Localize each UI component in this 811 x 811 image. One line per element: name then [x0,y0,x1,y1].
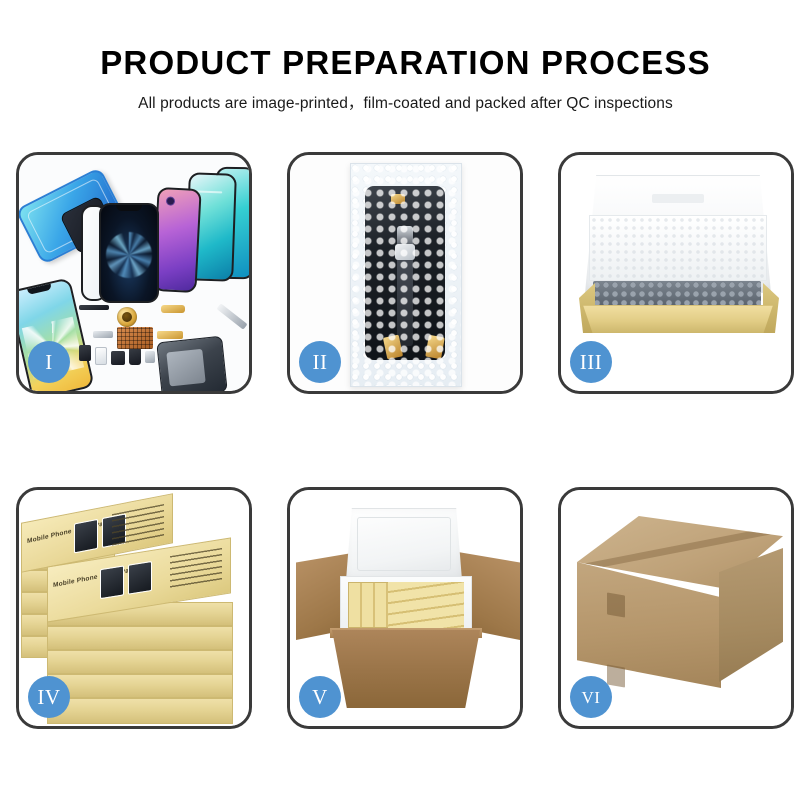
box-label-thumbnail [100,565,124,599]
product-preparation-infographic: PRODUCT PREPARATION PROCESS All products… [0,0,811,811]
process-step-panel-6: VI [558,487,794,729]
gold-contact-right [425,335,445,359]
front-stack-layer [47,626,233,650]
foam-sheet [589,215,767,281]
antenna-flex-part [157,331,183,339]
packed-retail-boxes-row2 [388,582,464,628]
earpiece-mesh-part [79,305,109,310]
step-badge-3: III [570,341,612,383]
box-front-panel [583,305,773,333]
step-badge-1: I [28,341,70,383]
process-step-panel-1: I [16,152,252,394]
header: PRODUCT PREPARATION PROCESS All products… [0,0,811,113]
carton-tape-upper [607,592,625,617]
flex-cable-part [161,305,185,313]
vibration-motor-part [129,347,141,365]
bubble-wrapped-items [593,281,761,307]
step-badge-2: II [299,341,341,383]
speaker-module-part [117,307,137,327]
box-lid-tab [652,194,704,203]
step-badge-6: VI [570,676,612,718]
box-label-text-front: Mobile Phone Spare Parts [53,566,138,589]
front-stack-layer [47,650,233,674]
process-step-grid: I II [16,152,795,729]
button-part [79,345,91,361]
box-label-thumbnail [128,561,152,595]
screw-set-part [145,351,155,363]
carton-front-panel [332,630,480,708]
process-step-panel-4: Mobile Phone Spare Parts Mobile Phone Sp… [16,487,252,729]
step-badge-5: V [299,676,341,718]
front-stack-layer [47,698,233,724]
box-label-spec-lines [170,548,222,590]
step-badge-4: IV [28,676,70,718]
page-subtitle: All products are image-printed，film-coat… [0,91,811,113]
camera-module-part [111,351,125,365]
carton-tape-lower [607,664,625,687]
screen-flex-cable [397,226,413,346]
process-step-panel-2: II [287,152,523,394]
phone-back-housing [156,336,227,391]
process-step-panel-3: III [558,152,794,394]
process-step-panel-5: V [287,487,523,729]
front-stack-layer [47,674,233,698]
bubble-wrap-bag [350,163,462,387]
box-label-spec-lines [112,504,164,548]
box-label-text-back: Mobile Phone Spare Parts [27,519,112,545]
page-title: PRODUCT PREPARATION PROCESS [0,44,811,82]
bracket-part [93,331,113,338]
packed-screen-assembly [365,186,445,360]
box-label-thumbnail [74,519,98,554]
phone-black-display [99,203,159,303]
logic-board-part [117,327,153,349]
sim-tray-part [95,347,107,365]
phone-purple [152,187,201,293]
gold-contact-top [391,194,405,204]
foam-box-lid [346,508,462,580]
